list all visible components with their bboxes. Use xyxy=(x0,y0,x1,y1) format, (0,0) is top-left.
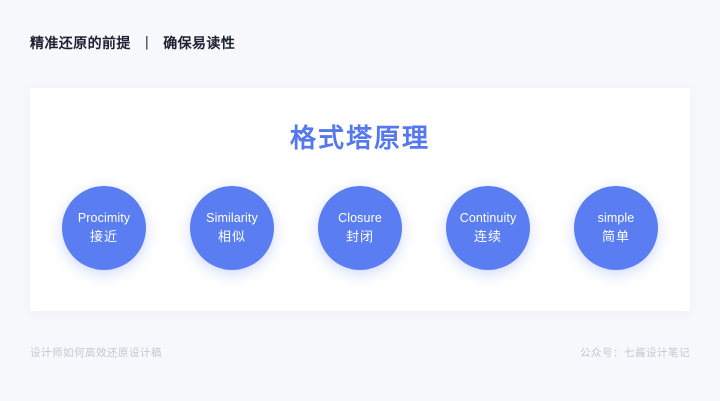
principle-label-en: simple xyxy=(598,209,635,227)
content-card: 格式塔原理 Procimity 接近 Similarity 相似 Closure… xyxy=(30,88,690,311)
slide-header-divider: 丨 xyxy=(140,33,154,54)
principle-label-en: Continuity xyxy=(460,209,517,227)
principle-label-cn: 封闭 xyxy=(346,227,374,247)
footer-right-text: 公众号：七酱设计笔记 xyxy=(580,345,690,360)
principle-label-cn: 简单 xyxy=(602,227,630,247)
principle-circle[interactable]: simple 简单 xyxy=(574,186,658,270)
principle-label-en: Closure xyxy=(338,209,382,227)
principle-label-en: Procimity xyxy=(78,209,130,227)
principle-circle-row: Procimity 接近 Similarity 相似 Closure 封闭 Co… xyxy=(62,186,658,270)
card-title: 格式塔原理 xyxy=(30,118,690,155)
slide-header-title-right: 确保易读性 xyxy=(163,33,235,53)
principle-label-cn: 连续 xyxy=(474,227,502,247)
footer-left-text: 设计师如何高效还原设计稿 xyxy=(30,345,162,360)
slide-header: 精准还原的前提 丨 确保易读性 xyxy=(30,33,235,53)
principle-label-cn: 接近 xyxy=(90,227,118,247)
principle-label-cn: 相似 xyxy=(218,227,246,247)
principle-circle[interactable]: Similarity 相似 xyxy=(190,186,274,270)
slide-root: { "header": { "title_left": "精准还原的前提", "… xyxy=(0,0,720,401)
principle-label-en: Similarity xyxy=(206,209,258,227)
principle-circle[interactable]: Procimity 接近 xyxy=(62,186,146,270)
slide-header-title-left: 精准还原的前提 xyxy=(30,33,131,53)
principle-circle[interactable]: Closure 封闭 xyxy=(318,186,402,270)
slide-footer: 设计师如何高效还原设计稿 公众号：七酱设计笔记 xyxy=(30,345,690,360)
principle-circle[interactable]: Continuity 连续 xyxy=(446,186,530,270)
